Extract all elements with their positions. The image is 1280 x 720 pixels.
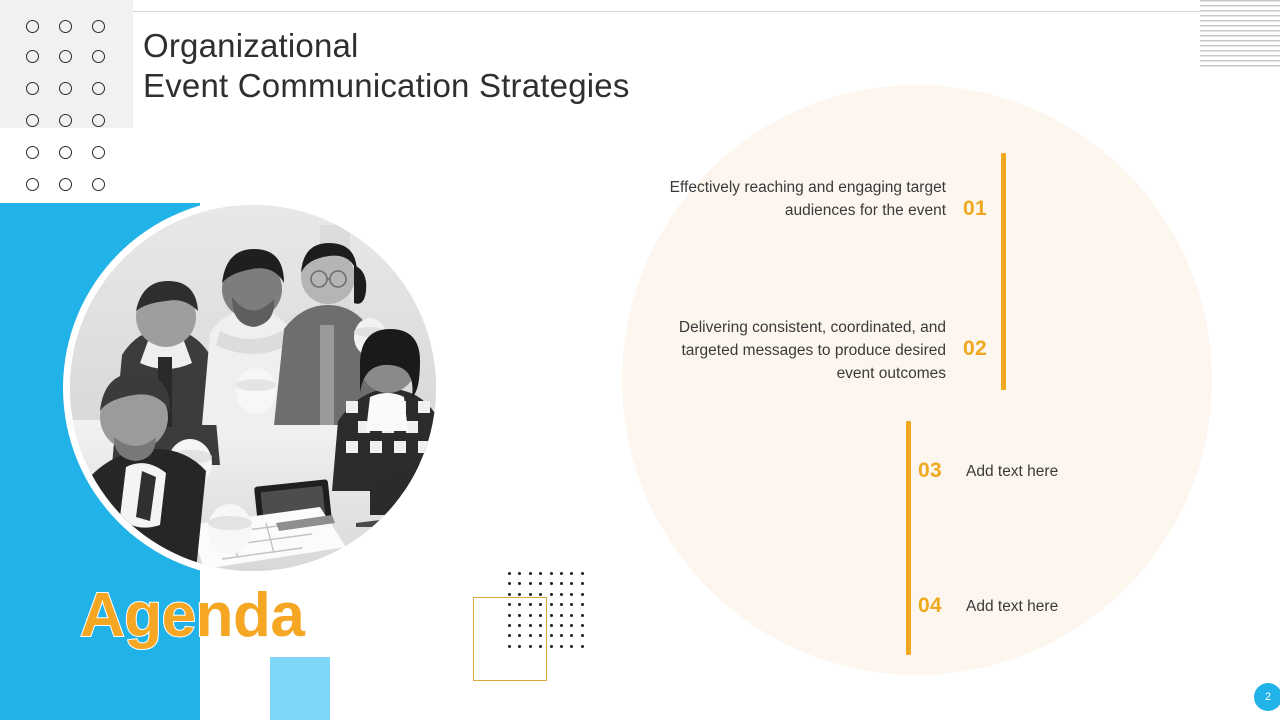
ring-dot <box>26 178 39 191</box>
grid-dot <box>550 634 553 637</box>
grid-dot <box>560 624 563 627</box>
grid-dot <box>581 572 584 575</box>
grid-dot <box>560 582 563 585</box>
ring-dot <box>59 20 72 33</box>
agenda-item-03-text: Add text here <box>966 460 1206 483</box>
grid-dot <box>560 603 563 606</box>
header-divider-line <box>133 11 1200 12</box>
ring-dot <box>92 82 105 95</box>
timeline-bar-upper <box>1001 153 1006 390</box>
grid-dot <box>581 593 584 596</box>
timeline-bar-lower <box>906 421 911 655</box>
striped-pattern-decoration <box>1200 0 1280 70</box>
agenda-item-04-text: Add text here <box>966 595 1206 618</box>
grid-dot <box>539 582 542 585</box>
grid-dot <box>560 645 563 648</box>
agenda-item-01-number: 01 <box>963 197 987 221</box>
grid-dot <box>518 582 521 585</box>
light-blue-square-decoration <box>270 657 330 720</box>
grid-dot <box>508 572 511 575</box>
orange-outline-square-decoration <box>473 597 547 681</box>
ring-dot <box>59 50 72 63</box>
page-title-line-1: Organizational <box>143 26 1003 66</box>
grid-dot <box>570 593 573 596</box>
agenda-heading: Agenda <box>80 581 304 651</box>
grid-dot <box>550 582 553 585</box>
agenda-item-02-text: Delivering consistent, coordinated, and … <box>646 316 946 385</box>
grid-dot <box>550 593 553 596</box>
team-meeting-photo <box>70 205 436 571</box>
grid-dot <box>560 614 563 617</box>
grid-dot <box>518 572 521 575</box>
ring-dot <box>92 146 105 159</box>
ring-dot <box>26 114 39 127</box>
ring-dot <box>59 114 72 127</box>
grid-dot <box>539 593 542 596</box>
grid-dot <box>581 645 584 648</box>
ring-dot <box>59 146 72 159</box>
agenda-item-01-text: Effectively reaching and engaging target… <box>666 176 946 222</box>
grid-dot <box>570 645 573 648</box>
grid-dot <box>560 593 563 596</box>
grid-dot <box>550 614 553 617</box>
agenda-item-04-number: 04 <box>918 594 942 618</box>
grid-dot <box>550 603 553 606</box>
ring-dot <box>26 146 39 159</box>
grid-dot <box>550 572 553 575</box>
ring-dot <box>92 50 105 63</box>
grid-dot <box>508 593 511 596</box>
grid-dot <box>508 582 511 585</box>
grid-dot <box>581 582 584 585</box>
ring-dot <box>92 20 105 33</box>
grid-dot <box>518 593 521 596</box>
grid-dot <box>570 572 573 575</box>
ring-dot <box>26 82 39 95</box>
grid-dot <box>529 582 532 585</box>
grid-dot <box>550 624 553 627</box>
grid-dot <box>581 624 584 627</box>
grid-dot <box>570 603 573 606</box>
ring-dot <box>59 82 72 95</box>
grid-dot <box>570 582 573 585</box>
grid-dot <box>570 624 573 627</box>
grid-dot <box>560 634 563 637</box>
slide-canvas: Organizational Event Communication Strat… <box>0 0 1280 720</box>
agenda-item-02-number: 02 <box>963 337 987 361</box>
grid-dot <box>581 603 584 606</box>
grid-dot <box>529 593 532 596</box>
page-number-badge: 2 <box>1254 683 1280 711</box>
grid-dot <box>581 634 584 637</box>
ring-dot <box>92 114 105 127</box>
ring-dot <box>26 50 39 63</box>
grid-dot <box>581 614 584 617</box>
grid-dot <box>539 572 542 575</box>
grid-dot <box>570 634 573 637</box>
grid-dot <box>550 645 553 648</box>
ring-dot <box>92 178 105 191</box>
grid-dot <box>560 572 563 575</box>
agenda-item-03-number: 03 <box>918 459 942 483</box>
grid-dot <box>570 614 573 617</box>
ring-dot <box>26 20 39 33</box>
ring-dot <box>59 178 72 191</box>
grid-dot <box>529 572 532 575</box>
